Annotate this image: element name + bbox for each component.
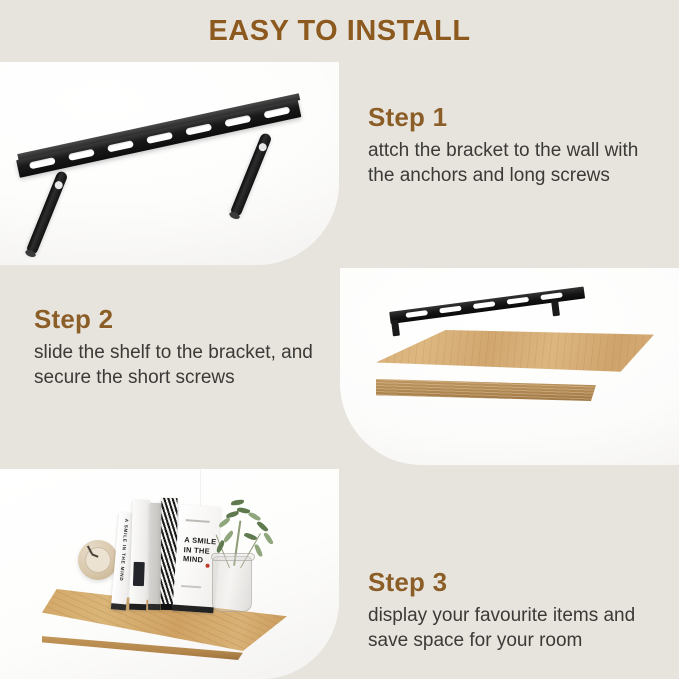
bracket-screw-left xyxy=(53,180,63,190)
header-bar: EASY TO INSTALL xyxy=(0,0,679,62)
steps-grid: Step 1 attch the bracket to the wall wit… xyxy=(0,62,679,679)
bracket-slot xyxy=(107,140,134,152)
bracket-arm-left xyxy=(25,170,68,256)
bracket-slot xyxy=(29,157,56,169)
book-base-band xyxy=(148,604,160,610)
bracket-screw-right xyxy=(257,142,267,152)
bracket-slot xyxy=(473,301,495,309)
book-cover-red-dot xyxy=(205,564,209,568)
wood-shelf-board xyxy=(376,330,654,410)
step-2-body: slide the shelf to the bracket, and secu… xyxy=(34,340,324,390)
book-base-band xyxy=(111,603,126,610)
bracket-arm-right xyxy=(229,132,272,218)
book-cover-rule xyxy=(181,585,201,588)
book-cover-graphic xyxy=(133,562,145,586)
book-base-band xyxy=(129,604,146,611)
step-1-heading: Step 1 xyxy=(368,102,665,133)
vase-rim xyxy=(211,553,255,561)
step-3-heading: Step 3 xyxy=(368,567,665,598)
book-cover-rule xyxy=(186,519,210,523)
step-3-body: display your favourite items and save sp… xyxy=(368,603,658,653)
bracket-slot xyxy=(68,149,95,161)
bracket-slot xyxy=(405,310,427,318)
bracket-arm-cap-right xyxy=(228,211,240,221)
step-2-image xyxy=(340,268,679,465)
bracket-slot xyxy=(507,297,529,305)
step-1-image xyxy=(0,62,339,265)
step-1-body: attch the bracket to the wall with the a… xyxy=(368,138,658,188)
shelf-wood-grain xyxy=(376,330,654,388)
bracket-slot xyxy=(224,115,251,127)
bracket-scene xyxy=(0,62,339,265)
step-2-heading: Step 2 xyxy=(34,304,325,335)
bracket-slot xyxy=(185,123,212,135)
shelf-mount-scene xyxy=(340,268,679,465)
wall-bracket-illustration xyxy=(18,120,323,245)
bracket-slot xyxy=(439,306,461,314)
page-title: EASY TO INSTALL xyxy=(208,15,470,48)
book-spine-text: A SMILE IN THE MIND xyxy=(118,518,128,581)
bracket-foot-right xyxy=(551,300,560,317)
step-1-text: Step 1 attch the bracket to the wall wit… xyxy=(340,62,679,265)
bracket-slot xyxy=(263,106,290,118)
wooden-clock xyxy=(78,540,118,580)
bracket-slot xyxy=(540,292,562,300)
bracket-slot xyxy=(146,132,173,144)
shelf-edge-plywood-lines xyxy=(376,379,626,401)
glass-vase xyxy=(212,556,252,612)
step-3-text: Step 3 display your favourite items and … xyxy=(340,469,679,679)
step-2-text: Step 2 slide the shelf to the bracket, a… xyxy=(0,268,339,465)
